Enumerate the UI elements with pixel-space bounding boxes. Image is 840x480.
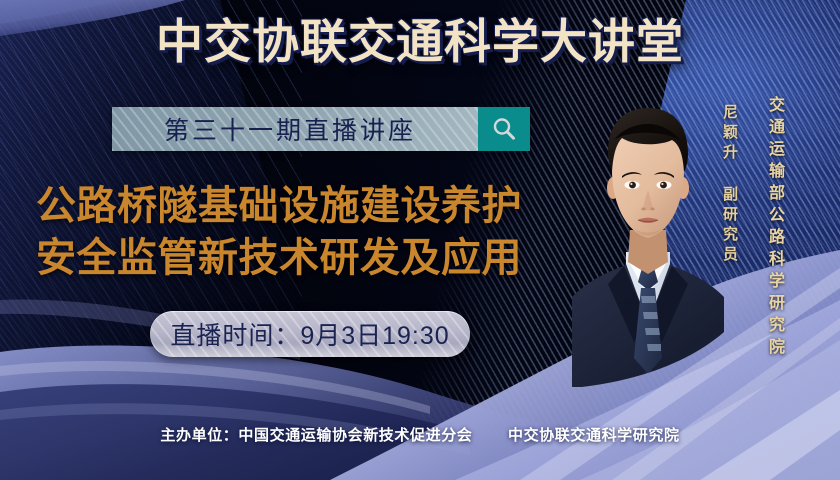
footer-co-organizer: 中交协联交通科学研究院 <box>508 427 680 444</box>
speaker-name-title: 尼颖升 副研究员 <box>719 104 740 266</box>
footer-organizers: 主办单位：中国交通运输协会新技术促进分会 中交协联交通科学研究院 <box>0 424 840 445</box>
footer-organizer-label: 主办单位：中国交通运输协会新技术促进分会 <box>160 427 472 444</box>
speaker-portrait <box>572 92 724 387</box>
search-button[interactable] <box>478 107 530 151</box>
episode-banner: 第三十一期直播讲座 <box>112 107 530 151</box>
main-title-wrap: 中交协联交通科学大讲堂 <box>0 16 840 69</box>
headline-line-2: 安全监管新技术研发及应用 <box>36 232 581 284</box>
search-icon <box>490 115 518 143</box>
lecture-headline: 公路桥隧基础设施建设养护 安全监管新技术研发及应用 <box>36 180 581 284</box>
live-lecture-poster: 中交协联交通科学大讲堂 第三十一期直播讲座 公路桥隧基础设施建设养护 安全监管新… <box>0 0 840 480</box>
episode-banner-label: 第三十一期直播讲座 <box>112 107 478 151</box>
page-title: 中交协联交通科学大讲堂 <box>150 16 690 69</box>
headline-line-1: 公路桥隧基础设施建设养护 <box>36 184 522 228</box>
broadcast-time-pill: 直播时间：9月3日19:30 <box>150 311 470 357</box>
broadcast-time-label: 直播时间：9月3日19:30 <box>170 316 449 352</box>
speaker-organization: 交通运输部公路科学研究院 <box>762 96 786 360</box>
